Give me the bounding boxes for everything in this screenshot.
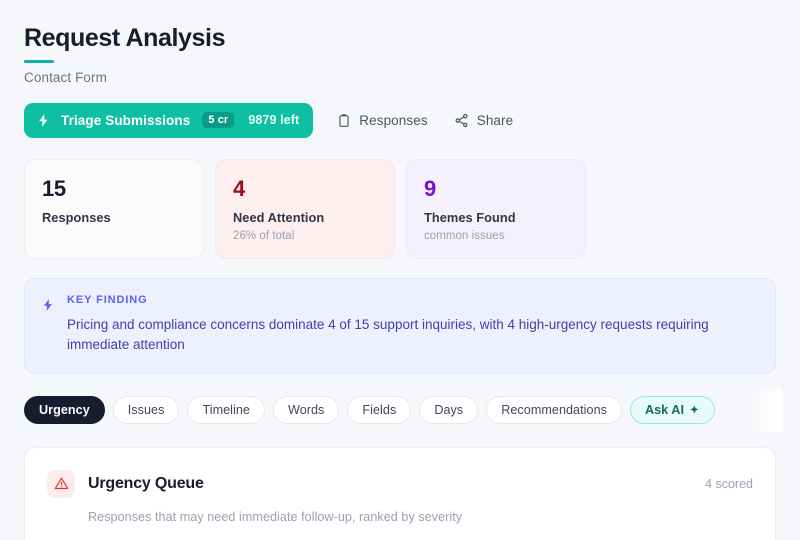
page-header: Request Analysis Contact Form [24, 24, 776, 85]
stat-value: 9 [424, 177, 569, 201]
warning-triangle-icon [47, 470, 75, 498]
page-title: Request Analysis [24, 24, 776, 53]
urgency-queue-card: Urgency Queue 4 scored Responses that ma… [24, 447, 776, 540]
triage-remaining-label: 9879 left [248, 113, 299, 127]
urgency-queue-description: Responses that may need immediate follow… [88, 510, 753, 524]
bolt-icon [41, 297, 55, 356]
clipboard-icon [337, 113, 351, 128]
tab-strip[interactable]: Urgency Issues Timeline Words Fields Day… [24, 395, 776, 425]
stats-row: 15 Responses 4 Need Attention 26% of tot… [24, 159, 776, 259]
sparkle-icon: ✦ [689, 402, 700, 417]
share-button[interactable]: Share [452, 109, 516, 132]
urgency-queue-title: Urgency Queue [88, 475, 204, 493]
stat-label: Responses [42, 210, 187, 225]
responses-button[interactable]: Responses [335, 109, 429, 132]
page-subtitle: Contact Form [24, 70, 776, 85]
ask-ai-button[interactable]: Ask AI ✦ [630, 396, 715, 424]
tab-urgency[interactable]: Urgency [24, 396, 105, 424]
triage-credit-badge: 5 cr [202, 112, 234, 128]
stat-sublabel: 26% of total [233, 230, 378, 242]
bolt-icon [36, 113, 51, 128]
tab-words[interactable]: Words [273, 396, 339, 424]
urgency-queue-count: 4 scored [705, 477, 753, 491]
stat-card-responses: 15 Responses [24, 159, 204, 259]
title-accent-bar [24, 60, 54, 63]
stat-card-need-attention: 4 Need Attention 26% of total [215, 159, 395, 259]
stat-label: Need Attention [233, 210, 378, 225]
share-button-label: Share [477, 113, 514, 128]
tab-fields[interactable]: Fields [347, 396, 411, 424]
tab-timeline[interactable]: Timeline [187, 396, 265, 424]
key-finding-body: KEY FINDING Pricing and compliance conce… [67, 294, 727, 356]
key-finding-label: KEY FINDING [67, 294, 727, 306]
urgency-queue-header: Urgency Queue 4 scored [47, 470, 753, 498]
share-icon [454, 113, 469, 128]
ask-ai-label: Ask AI [645, 403, 684, 417]
tab-issues[interactable]: Issues [113, 396, 180, 424]
triage-submissions-button[interactable]: Triage Submissions 5 cr 9879 left [24, 103, 313, 138]
tabs-container: Urgency Issues Timeline Words Fields Day… [24, 395, 776, 425]
action-row: Triage Submissions 5 cr 9879 left Respon… [24, 103, 776, 138]
stat-card-themes-found: 9 Themes Found common issues [406, 159, 586, 259]
stat-value: 4 [233, 177, 378, 201]
key-finding-text: Pricing and compliance concerns dominate… [67, 315, 727, 356]
stat-value: 15 [42, 177, 187, 201]
page-root: Request Analysis Contact Form Triage Sub… [0, 0, 800, 513]
tab-days[interactable]: Days [419, 396, 478, 424]
key-finding-banner: KEY FINDING Pricing and compliance conce… [24, 278, 776, 374]
stat-sublabel: common issues [424, 230, 569, 242]
triage-button-label: Triage Submissions [61, 113, 190, 128]
responses-button-label: Responses [359, 113, 427, 128]
tab-recommendations[interactable]: Recommendations [486, 396, 622, 424]
stat-label: Themes Found [424, 210, 569, 225]
